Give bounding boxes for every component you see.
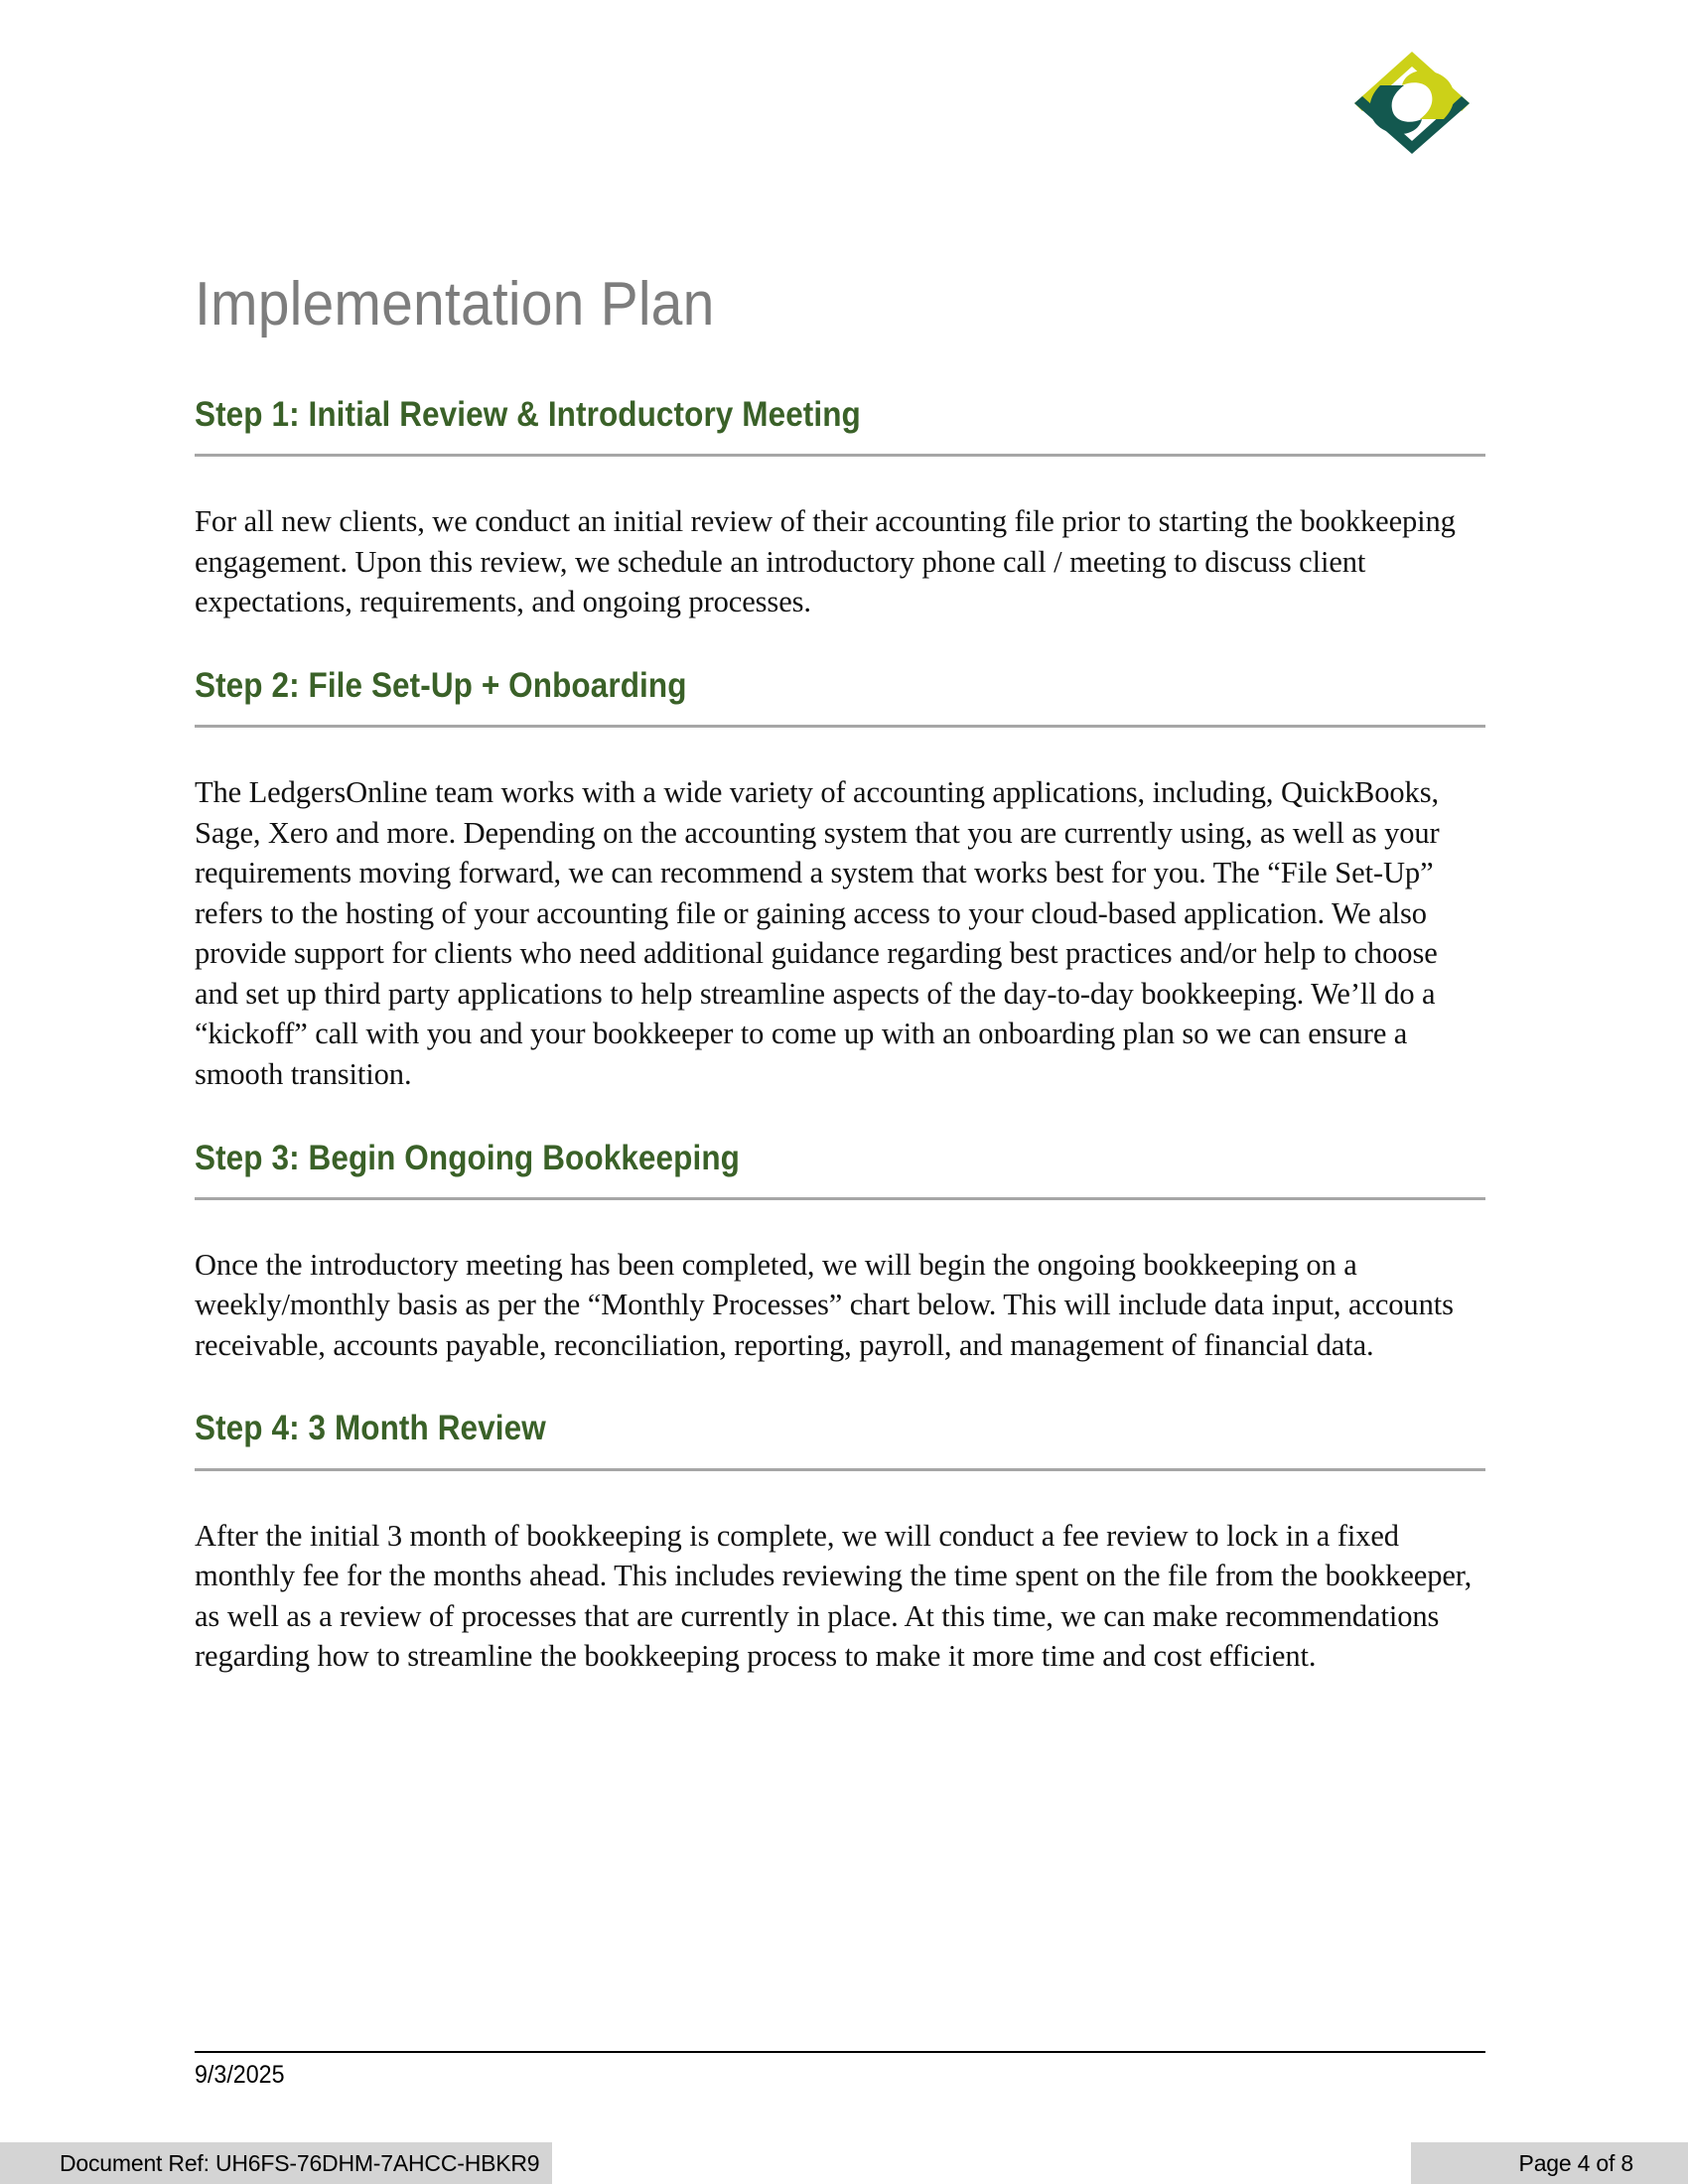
page-indicator-chip: Page 4 of 8 bbox=[1411, 2142, 1688, 2184]
section-heading-step-4: Step 4: 3 Month Review bbox=[195, 1409, 1356, 1447]
paragraph-spacer bbox=[195, 1095, 1485, 1139]
company-logo bbox=[1342, 42, 1481, 156]
paragraph-spacer bbox=[195, 1365, 1485, 1409]
footer-divider bbox=[195, 2051, 1485, 2053]
document-content: Step 1: Initial Review & Introductory Me… bbox=[195, 395, 1485, 1677]
section-heading-step-3: Step 3: Begin Ongoing Bookkeeping bbox=[195, 1139, 1356, 1177]
document-ref-text: Document Ref: UH6FS-76DHM-7AHCC-HBKR9 bbox=[60, 2150, 539, 2177]
section-step-4: Step 4: 3 Month Review After the initial… bbox=[195, 1409, 1485, 1676]
ledgersonline-diamond-swoosh-icon bbox=[1342, 42, 1481, 156]
status-bar: Document Ref: UH6FS-76DHM-7AHCC-HBKR9 Pa… bbox=[0, 2142, 1688, 2184]
section-body-step-2: The LedgersOnline team works with a wide… bbox=[195, 728, 1485, 1095]
section-body-step-4: After the initial 3 month of bookkeeping… bbox=[195, 1471, 1485, 1677]
section-step-1: Step 1: Initial Review & Introductory Me… bbox=[195, 395, 1485, 666]
section-body-step-1: For all new clients, we conduct an initi… bbox=[195, 457, 1485, 622]
section-step-2: Step 2: File Set-Up + Onboarding The Led… bbox=[195, 666, 1485, 1139]
document-page: Implementation Plan Step 1: Initial Revi… bbox=[0, 0, 1688, 2184]
section-heading-step-2: Step 2: File Set-Up + Onboarding bbox=[195, 666, 1356, 705]
section-body-step-3: Once the introductory meeting has been c… bbox=[195, 1200, 1485, 1366]
document-ref-chip: Document Ref: UH6FS-76DHM-7AHCC-HBKR9 bbox=[0, 2142, 552, 2184]
page-indicator-text: Page 4 of 8 bbox=[1519, 2150, 1633, 2177]
section-step-3: Step 3: Begin Ongoing Bookkeeping Once t… bbox=[195, 1139, 1485, 1410]
page-title: Implementation Plan bbox=[195, 272, 714, 337]
paragraph-spacer bbox=[195, 622, 1485, 666]
footer-date: 9/3/2025 bbox=[195, 2061, 285, 2090]
section-heading-step-1: Step 1: Initial Review & Introductory Me… bbox=[195, 395, 1356, 434]
